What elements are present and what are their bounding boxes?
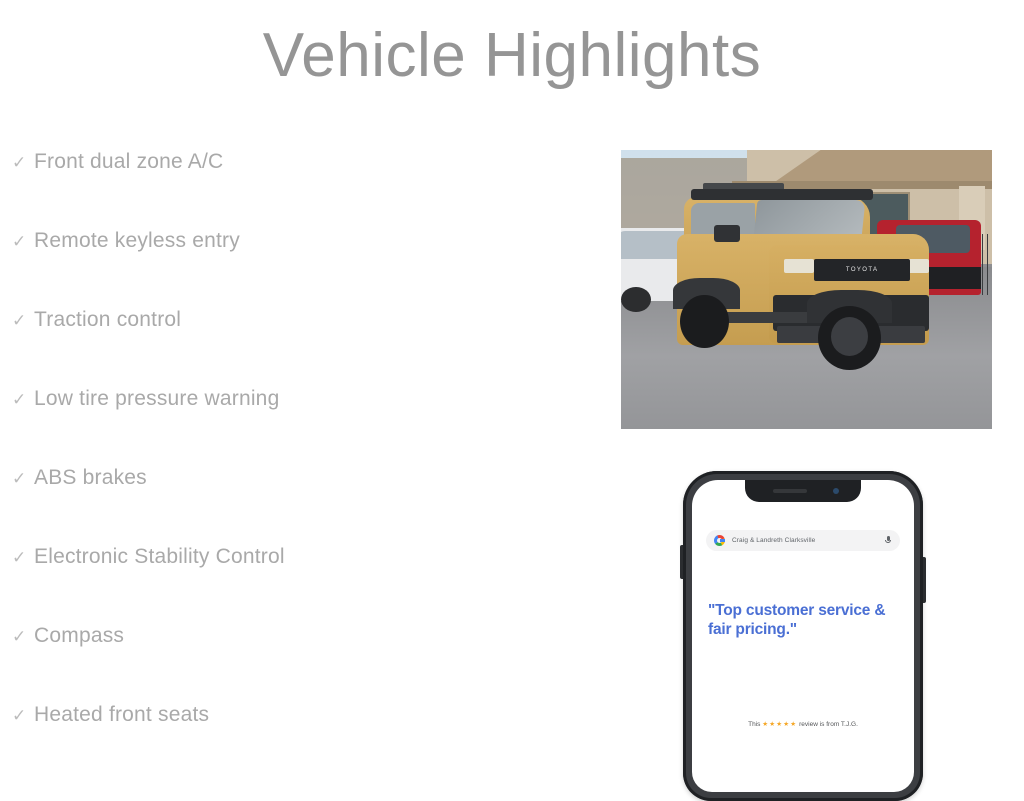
search-input[interactable]: Craig & Landreth Clarksville — [732, 537, 885, 544]
star-rating-icon: ★★★★★ — [762, 721, 797, 728]
feature-label: Remote keyless entry — [34, 229, 240, 253]
photo-suv-grille: TOYOTA — [814, 259, 910, 281]
check-icon: ✓ — [8, 233, 34, 250]
vehicle-features-list: ✓ Front dual zone A/C ✓ Remote keyless e… — [8, 150, 568, 782]
list-item: ✓ Front dual zone A/C — [8, 150, 568, 229]
review-credit: This ★★★★★ review is from T.J.G. — [692, 720, 914, 728]
list-item: ✓ Heated front seats — [8, 703, 568, 782]
check-icon: ✓ — [8, 628, 34, 645]
phone-frame: Craig & Landreth Clarksville "Top custom… — [683, 471, 923, 801]
review-credit-suffix: review is from T.J.G. — [799, 721, 858, 728]
feature-label: Low tire pressure warning — [34, 387, 279, 411]
phone-camera-icon — [833, 488, 839, 494]
feature-label: ABS brakes — [34, 466, 147, 490]
feature-label: Compass — [34, 624, 124, 648]
list-item: ✓ Traction control — [8, 308, 568, 387]
check-icon: ✓ — [8, 154, 34, 171]
phone-review-mockup: Craig & Landreth Clarksville "Top custom… — [683, 471, 923, 771]
review-quote: "Top customer service & fair pricing." — [708, 602, 900, 640]
phone-speaker-icon — [773, 489, 807, 493]
microphone-icon[interactable] — [885, 535, 892, 546]
list-item: ✓ Electronic Stability Control — [8, 545, 568, 624]
google-logo-icon — [714, 535, 725, 546]
check-icon: ✓ — [8, 312, 34, 329]
photo-suv-rear-wheel — [680, 295, 728, 348]
feature-label: Traction control — [34, 308, 181, 332]
feature-label: Electronic Stability Control — [34, 545, 285, 569]
review-credit-prefix: This — [748, 721, 760, 728]
list-item: ✓ ABS brakes — [8, 466, 568, 545]
page-title: Vehicle Highlights — [0, 22, 1024, 90]
list-item: ✓ Remote keyless entry — [8, 229, 568, 308]
list-item: ✓ Compass — [8, 624, 568, 703]
list-item: ✓ Low tire pressure warning — [8, 387, 568, 466]
feature-label: Front dual zone A/C — [34, 150, 223, 174]
vehicle-photo: TOYOTA — [621, 150, 992, 429]
google-search-bar[interactable]: Craig & Landreth Clarksville — [706, 530, 900, 551]
phone-screen: Craig & Landreth Clarksville "Top custom… — [692, 480, 914, 792]
photo-red-truck-grille — [922, 267, 981, 289]
check-icon: ✓ — [8, 391, 34, 408]
phone-volume-button — [680, 545, 683, 579]
photo-suv-roof-rack — [691, 189, 873, 200]
toyota-badge: TOYOTA — [846, 267, 879, 273]
check-icon: ✓ — [8, 549, 34, 566]
phone-power-button — [923, 557, 926, 603]
photo-suv-mirror — [714, 225, 740, 242]
check-icon: ✓ — [8, 470, 34, 487]
photo-suv-wheel-hub — [831, 317, 868, 356]
photo-white-suv-wheel — [621, 287, 651, 312]
check-icon: ✓ — [8, 707, 34, 724]
phone-notch — [745, 480, 861, 502]
photo-suv-headlight-left — [784, 259, 814, 273]
feature-label: Heated front seats — [34, 703, 209, 727]
